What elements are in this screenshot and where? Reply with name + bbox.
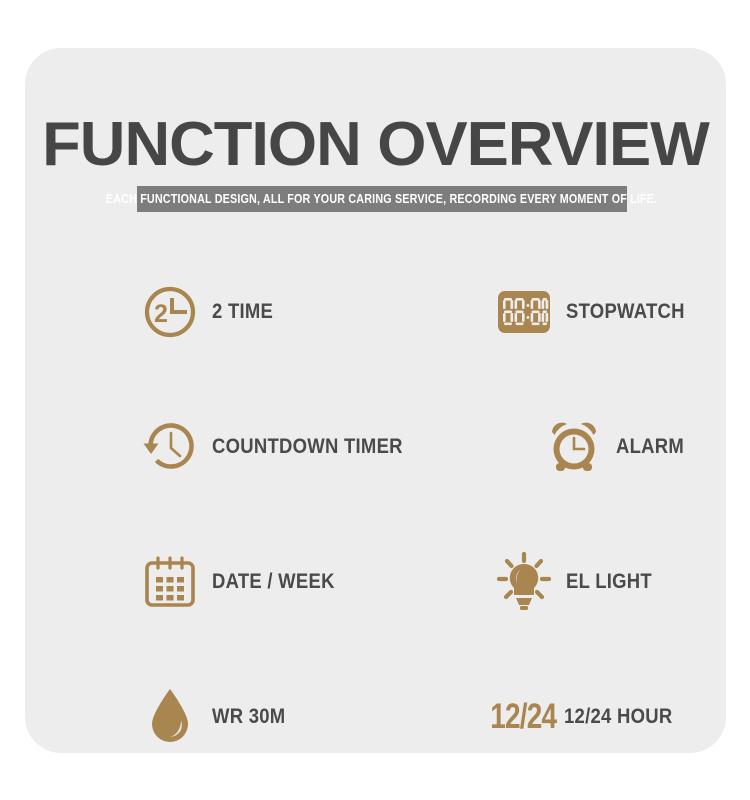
feature-label: WR 30M: [212, 705, 285, 729]
feature-item-two-time: 2 2 TIME: [25, 244, 379, 379]
feature-grid: 2 2 TIME: [25, 244, 726, 784]
subtitle-text: EACH FUNCTIONAL DESIGN, ALL FOR YOUR CAR…: [106, 192, 657, 206]
feature-item-stopwatch: STOPWATCH: [379, 244, 726, 379]
feature-item-countdown: COUNTDOWN TIMER: [25, 379, 429, 514]
feature-label: ALARM: [616, 435, 684, 459]
svg-text:2: 2: [154, 300, 168, 328]
lightbulb-icon: [492, 547, 556, 617]
alarm-clock-icon: [542, 412, 606, 482]
calendar-icon: [138, 547, 202, 617]
feature-row: WR 30M 12/24 12/24 HOUR: [25, 649, 726, 784]
feature-label: COUNTDOWN TIMER: [212, 435, 403, 459]
feature-row: 2 2 TIME: [25, 244, 726, 379]
function-overview-page: FUNCTION OVERVIEW EACH FUNCTIONAL DESIGN…: [0, 0, 750, 800]
feature-item-hour-format: 12/24 12/24 HOUR: [379, 649, 726, 784]
feature-label: DATE / WEEK: [212, 570, 335, 594]
feature-label: EL LIGHT: [566, 570, 652, 594]
feature-label: 2 TIME: [212, 300, 273, 324]
subtitle-banner: EACH FUNCTIONAL DESIGN, ALL FOR YOUR CAR…: [137, 186, 627, 212]
feature-label: 12/24 HOUR: [564, 705, 672, 729]
page-title: FUNCTION OVERVIEW: [18, 114, 733, 176]
feature-label: STOPWATCH: [566, 300, 685, 324]
two-time-clock-icon: 2: [138, 277, 202, 347]
twelve-twentyfour-text: 12/24: [490, 697, 556, 737]
feature-item-el-light: EL LIGHT: [379, 514, 726, 649]
feature-card: FUNCTION OVERVIEW EACH FUNCTIONAL DESIGN…: [25, 48, 726, 753]
feature-item-wr-30m: WR 30M: [25, 649, 379, 784]
feature-item-alarm: ALARM: [429, 379, 726, 514]
twelve-twentyfour-icon: 12/24: [492, 682, 554, 752]
countdown-timer-icon: [138, 412, 202, 482]
feature-row: DATE / WEEK: [25, 514, 726, 649]
feature-row: COUNTDOWN TIMER ALA: [25, 379, 726, 514]
feature-item-date-week: DATE / WEEK: [25, 514, 379, 649]
digital-display-icon: [492, 277, 556, 347]
water-drop-icon: [138, 682, 202, 752]
